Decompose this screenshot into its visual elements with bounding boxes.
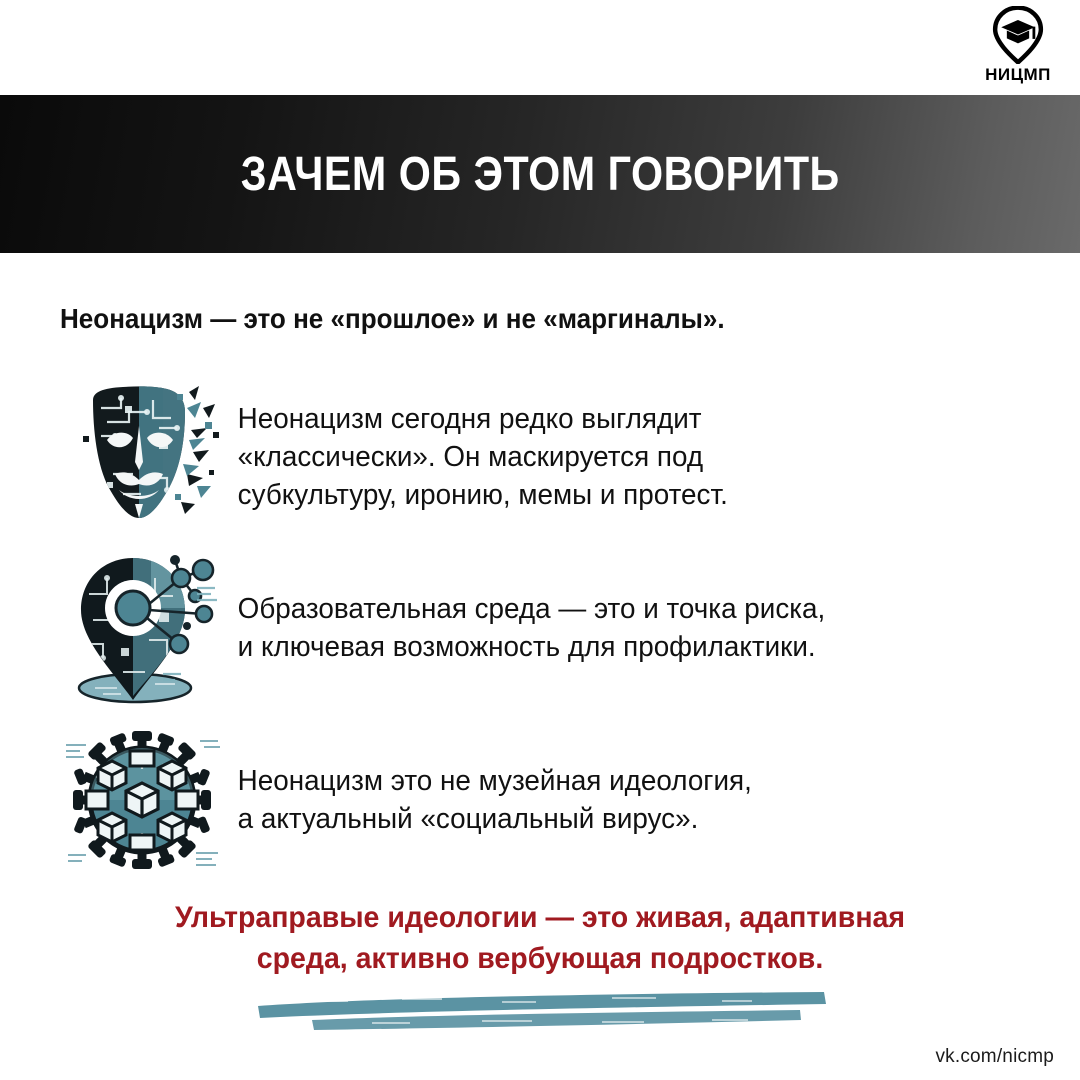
text-line: субкультуру, иронию, мемы и протест.: [238, 476, 728, 514]
text-line: и ключевая возможность для профилактики.: [238, 628, 826, 666]
list-item: Образовательная среда — это и точка риск…: [0, 542, 1080, 714]
list-item-text: Неонацизм сегодня редко выглядит «класси…: [230, 400, 728, 515]
virus-circuit-cubes-icon: [55, 715, 230, 885]
list-item-text: Образовательная среда — это и точка риск…: [230, 590, 825, 667]
conclusion-statement: Ультраправые идеологии — это живая, адап…: [0, 898, 1080, 979]
footer-url[interactable]: vk.com/nicmp: [935, 1046, 1054, 1068]
bullet-list: Неонацизм сегодня редко выглядит «класси…: [0, 372, 1080, 886]
page-title: ЗАЧЕМ ОБ ЭТОМ ГОВОРИТЬ: [241, 147, 840, 202]
slide-canvas: НИЦМП ЗАЧЕМ ОБ ЭТОМ ГОВОРИТЬ Неонацизм —…: [0, 0, 1080, 1080]
text-line: среда, активно вербующая подростков.: [27, 939, 1053, 980]
anonymous-mask-circuit-shatter-icon: [55, 372, 230, 542]
graduation-cap-map-pin-icon: [990, 6, 1046, 64]
text-line: Неонацизм сегодня редко выглядит: [238, 400, 728, 438]
text-line: «классически». Он маскируется под: [238, 438, 728, 476]
list-item-text: Неонацизм это не музейная идеология, а а…: [230, 762, 752, 839]
brand-logo: НИЦМП: [972, 6, 1064, 85]
brand-logo-text: НИЦМП: [985, 65, 1051, 85]
lead-statement: Неонацизм — это не «прошлое» и не «марги…: [60, 303, 725, 335]
list-item: Неонацизм это не музейная идеология, а а…: [0, 714, 1080, 886]
header-banner: ЗАЧЕМ ОБ ЭТОМ ГОВОРИТЬ: [0, 95, 1080, 253]
text-line: а актуальный «социальный вирус».: [238, 800, 752, 838]
text-line: Ультраправые идеологии — это живая, адап…: [27, 898, 1053, 939]
location-pin-network-nodes-icon: [55, 543, 230, 713]
list-item: Неонацизм сегодня редко выглядит «класси…: [0, 372, 1080, 542]
brush-stroke-underline: [252, 990, 832, 1034]
text-line: Неонацизм это не музейная идеология,: [238, 762, 752, 800]
text-line: Образовательная среда — это и точка риск…: [238, 590, 826, 628]
